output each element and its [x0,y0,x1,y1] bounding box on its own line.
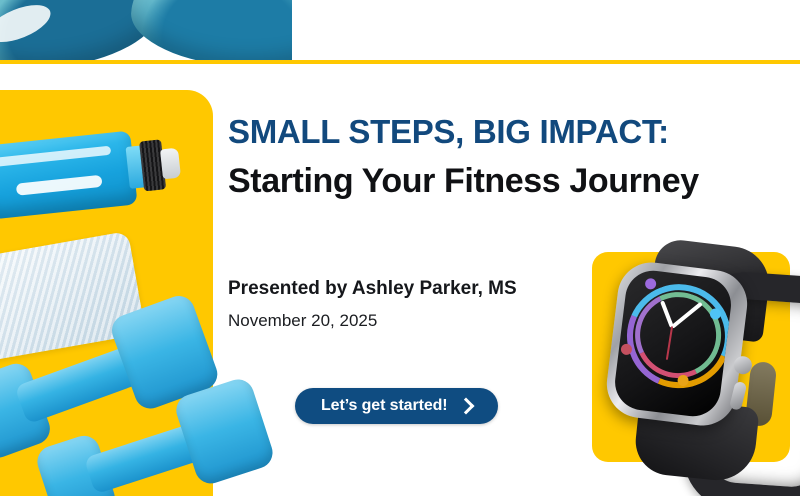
presentation-title-slide: SMALL STEPS, BIG IMPACT: Starting Your F… [0,0,800,496]
event-date: November 20, 2025 [228,311,377,331]
get-started-button-label: Let’s get started! [321,397,448,415]
bottle-tip-shape [160,148,181,180]
slide-text-content: SMALL STEPS, BIG IMPACT: Starting Your F… [228,0,788,496]
page-title-secondary: Starting Your Fitness Journey [228,162,699,201]
page-title-primary: SMALL STEPS, BIG IMPACT: [228,113,669,151]
presenter-name: Presented by Ashley Parker, MS [228,278,517,300]
chevron-right-icon [457,397,474,414]
get-started-button[interactable]: Let’s get started! [295,388,498,424]
